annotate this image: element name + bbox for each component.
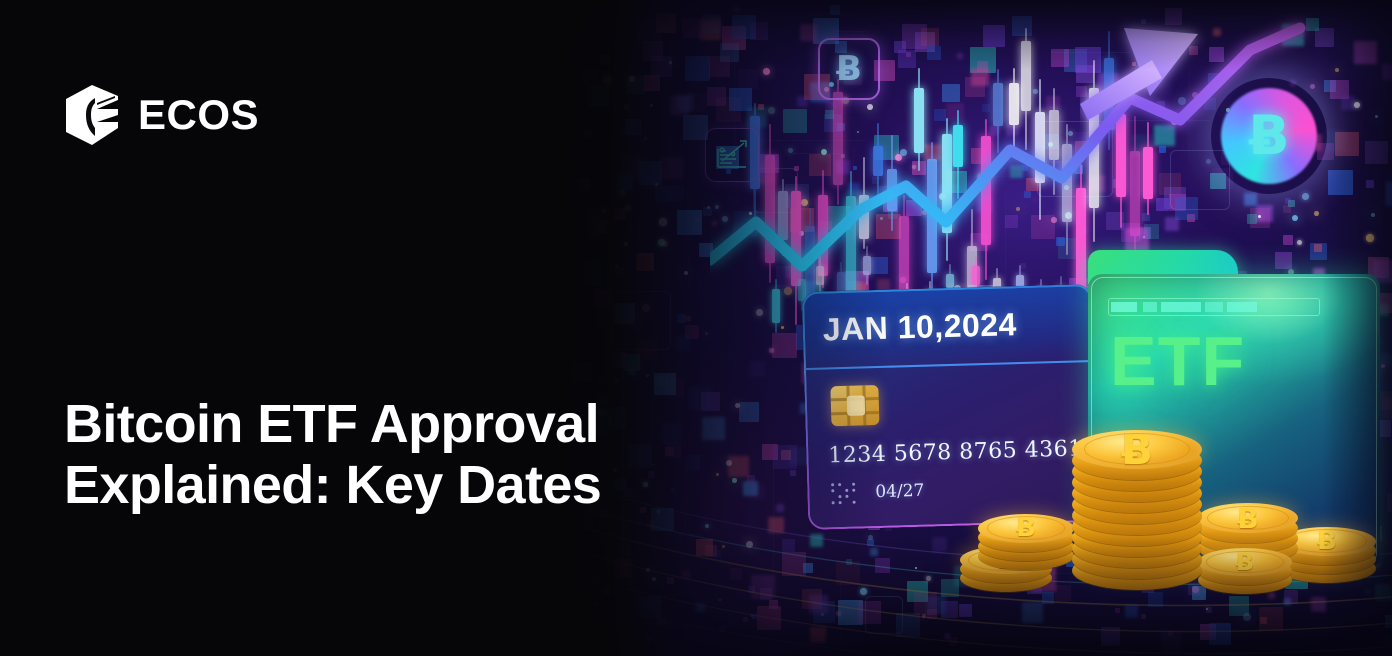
bitcoin-coin-symbol: Ƀ <box>1248 109 1289 163</box>
artwork-left-fade <box>560 0 890 656</box>
page-title: Bitcoin ETF Approval Explained: Key Date… <box>64 394 601 516</box>
brand-name: ECOS <box>138 94 259 136</box>
hero-artwork: Ƀ Ƀ <box>560 0 1392 656</box>
page-title-line-2: Explained: Key Dates <box>64 455 601 516</box>
bitcoin-coin-icon: Ƀ <box>1225 92 1313 180</box>
ecos-cube-logo-icon <box>64 84 120 146</box>
brand-logo[interactable]: ECOS <box>64 84 259 146</box>
page-title-line-1: Bitcoin ETF Approval <box>64 394 601 455</box>
banner-root: Ƀ Ƀ <box>0 0 1392 656</box>
etf-label: ETF <box>1110 326 1245 396</box>
etf-progress-bar <box>1108 298 1320 316</box>
